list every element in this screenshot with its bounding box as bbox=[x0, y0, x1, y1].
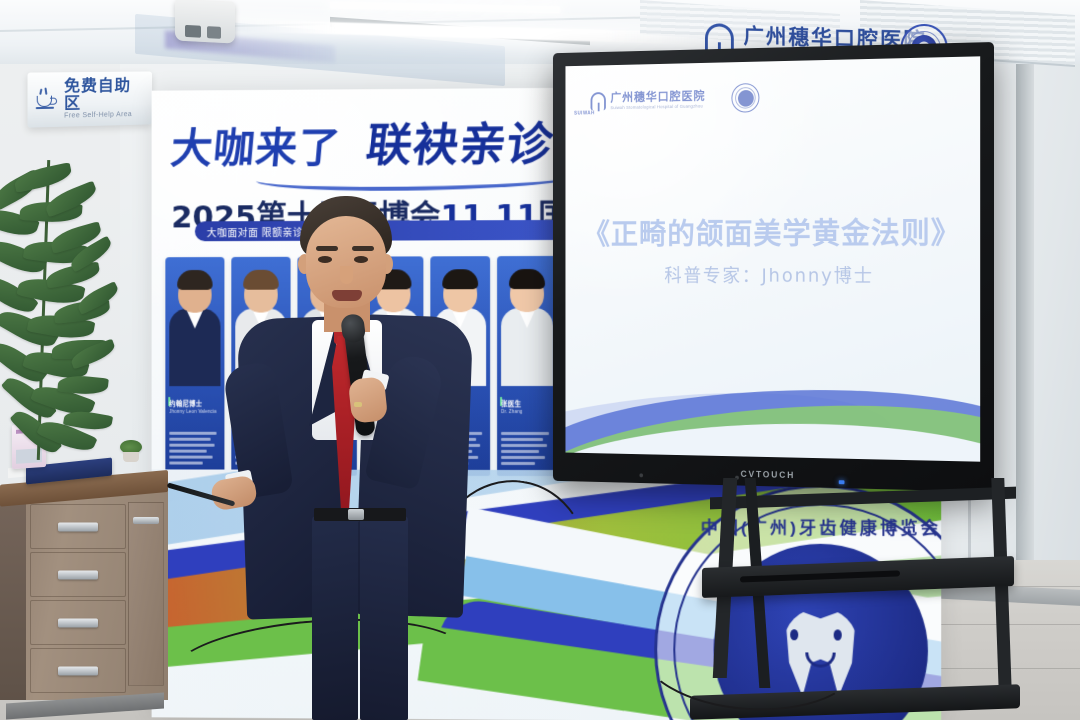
projector-lens-secondary-icon bbox=[207, 26, 221, 39]
presentation-photo-scene: 免费自助区 Free Self-Help Area SUIWAH 穗华口腔 广州… bbox=[0, 0, 1080, 720]
doctor-name-en: Dr. Zhang bbox=[501, 409, 523, 414]
presenter-person bbox=[228, 196, 488, 720]
drawer-pull-icon[interactable] bbox=[58, 618, 98, 627]
sign-label-cn: 免费自助区 bbox=[64, 78, 144, 113]
ceiling-projector bbox=[175, 0, 235, 44]
door-pull-icon[interactable] bbox=[133, 517, 159, 524]
doctor-name-cn: 张医生Dr. Zhang bbox=[501, 398, 523, 414]
interactive-display[interactable]: 广州穗华口腔医院 Suiwah Stomatological Hospital … bbox=[553, 42, 994, 492]
doctor-card: 约翰尼博士Jhonny Leon Valencia bbox=[165, 257, 224, 475]
slide-subtitle: 科普专家：Jhonny博士 bbox=[565, 261, 980, 288]
cabinet-door[interactable] bbox=[128, 502, 164, 686]
headline-swoosh bbox=[256, 164, 584, 192]
doctor-name-cn: 约翰尼博士Jhonny Leon Valencia bbox=[169, 398, 216, 414]
free-self-help-sign: 免费自助区 Free Self-Help Area bbox=[28, 71, 152, 127]
slide-hospital-logo: 广州穗华口腔医院 Suiwah Stomatological Hospital … bbox=[591, 89, 706, 110]
sign-label-en: Free Self-Help Area bbox=[64, 111, 144, 120]
display-screen[interactable]: 广州穗华口腔医院 Suiwah Stomatological Hospital … bbox=[565, 56, 980, 461]
stand-accessory-tray bbox=[702, 556, 1014, 598]
drawer-pull-icon[interactable] bbox=[58, 570, 98, 579]
doctor-name-en: Jhonny Leon Valencia bbox=[169, 409, 216, 414]
storage-cabinet bbox=[0, 470, 168, 720]
plant-leaf bbox=[13, 162, 74, 193]
doctor-card: 张医生Dr. Zhang bbox=[497, 256, 557, 476]
slide-wave-graphics bbox=[565, 310, 980, 462]
slide-title: 《正畸的颌面美学黄金法则》 bbox=[565, 208, 980, 253]
potted-plant bbox=[0, 150, 140, 480]
belt bbox=[314, 508, 406, 521]
tooth-icon bbox=[591, 92, 606, 110]
slide-logo-row: 广州穗华口腔医院 Suiwah Stomatological Hospital … bbox=[591, 83, 760, 115]
display-bezel: 广州穗华口腔医院 Suiwah Stomatological Hospital … bbox=[553, 42, 994, 492]
finger-ring bbox=[354, 402, 362, 407]
slide-expo-badge-icon bbox=[731, 83, 759, 113]
slide-logo-cn: 广州穗华口腔医院 bbox=[610, 89, 705, 102]
projector-lens-icon bbox=[185, 25, 201, 38]
coffee-cup-icon bbox=[36, 88, 58, 111]
drawer-pull-icon[interactable] bbox=[58, 522, 98, 531]
drawer-pull-icon[interactable] bbox=[58, 666, 98, 675]
